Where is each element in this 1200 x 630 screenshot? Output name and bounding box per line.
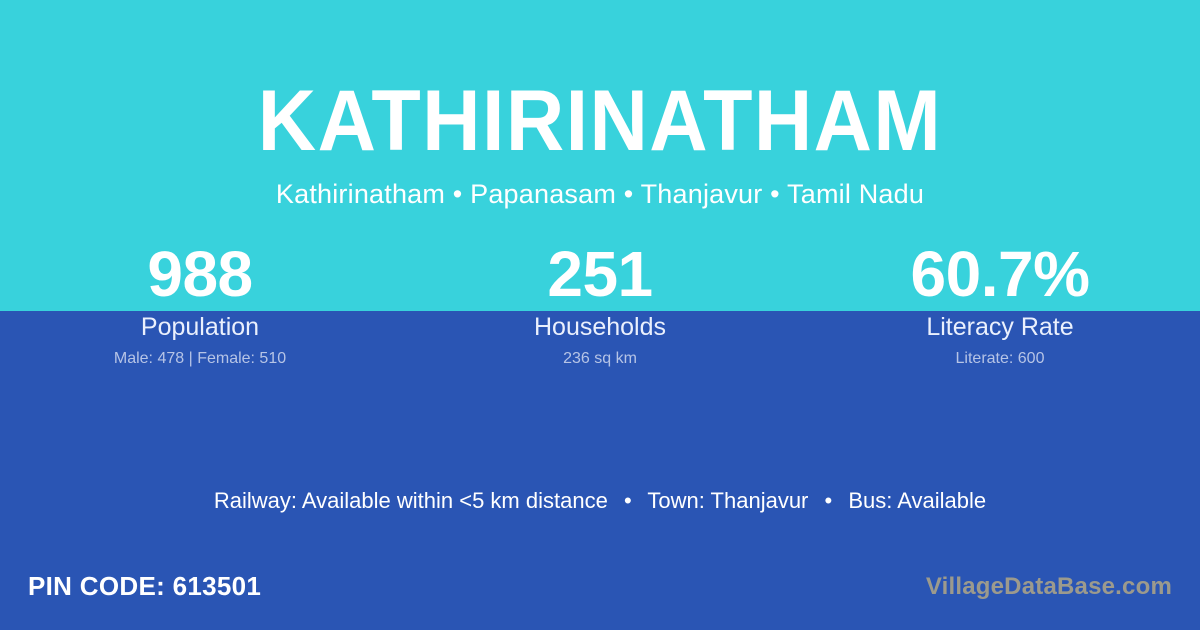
footer: PIN CODE: 613501 VillageDataBase.com bbox=[0, 556, 1200, 630]
infra-separator-2: • bbox=[815, 488, 843, 513]
stat-population: 988 Population Male: 478 | Female: 510 bbox=[0, 240, 400, 369]
infrastructure-row: Railway: Available within <5 km distance… bbox=[0, 487, 1200, 515]
stat-households-label: Households bbox=[400, 312, 800, 342]
infra-separator-1: • bbox=[614, 488, 642, 513]
infra-railway: Railway: Available within <5 km distance bbox=[214, 488, 608, 513]
stat-literacy-sub: Literate: 600 bbox=[800, 349, 1200, 369]
stat-literacy: 60.7% Literacy Rate Literate: 600 bbox=[800, 240, 1200, 369]
header: KATHIRINATHAM Kathirinatham • Papanasam … bbox=[0, 0, 1200, 210]
stat-households: 251 Households 236 sq km bbox=[400, 240, 800, 369]
infra-bus: Bus: Available bbox=[848, 488, 986, 513]
pin-code: PIN CODE: 613501 bbox=[28, 570, 261, 602]
breadcrumb: Kathirinatham • Papanasam • Thanjavur • … bbox=[0, 166, 1200, 210]
infra-town: Town: Thanjavur bbox=[647, 488, 808, 513]
stat-households-sub: 236 sq km bbox=[400, 349, 800, 369]
stat-literacy-label: Literacy Rate bbox=[800, 312, 1200, 342]
stats-row: 988 Population Male: 478 | Female: 510 2… bbox=[0, 240, 1200, 369]
village-info-card: KATHIRINATHAM Kathirinatham • Papanasam … bbox=[0, 0, 1200, 630]
stat-population-label: Population bbox=[0, 312, 400, 342]
stat-population-sub: Male: 478 | Female: 510 bbox=[0, 349, 400, 369]
stat-population-value: 988 bbox=[0, 240, 400, 308]
stat-literacy-value: 60.7% bbox=[800, 240, 1200, 308]
site-watermark: VillageDataBase.com bbox=[926, 572, 1172, 602]
stat-households-value: 251 bbox=[400, 240, 800, 308]
page-title: KATHIRINATHAM bbox=[36, 0, 1164, 166]
